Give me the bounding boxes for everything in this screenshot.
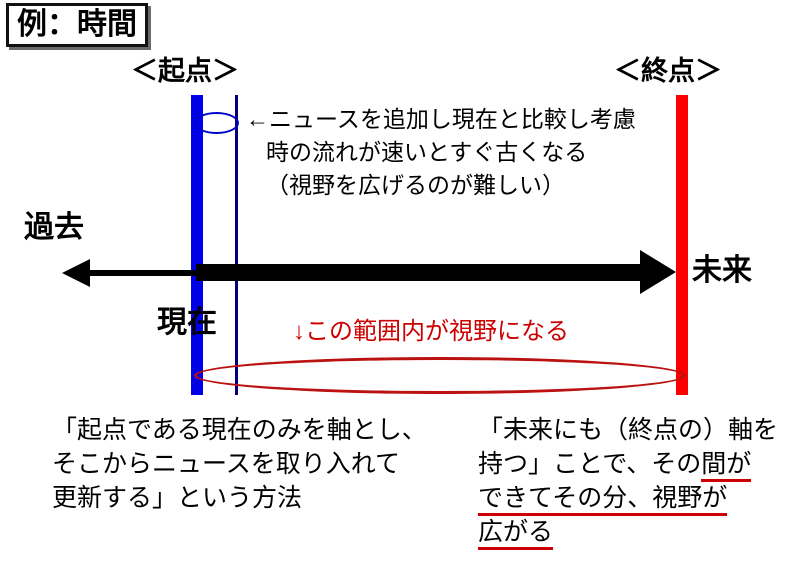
- label-present: 現在: [157, 308, 217, 338]
- field-of-view-ellipse: [194, 357, 686, 394]
- end-axis-bar: [676, 95, 688, 395]
- news-annotation-line-1: ←ニュースを追加し現在と比較し考慮: [246, 103, 636, 136]
- bottom-right-line-4-underlined: 広がる: [478, 518, 553, 550]
- news-annotation-line-3: （視野を広げるのが難しい）: [246, 169, 636, 202]
- bottom-right-line-2-underlined: 間が: [701, 450, 751, 482]
- news-scope-ellipse: [194, 112, 239, 134]
- end-point-caption: ＜終点＞: [614, 58, 722, 85]
- bottom-right-line-2: 持つ」ことで、その間が: [478, 447, 778, 481]
- bottom-right-line-1: 「未来にも（終点の）軸を: [478, 413, 778, 447]
- start-axis-bar: [191, 95, 203, 395]
- bottom-right-line-3: できてその分、視野が: [478, 481, 778, 515]
- timeline-arrow-right-head: [640, 250, 676, 294]
- label-past: 過去: [24, 213, 84, 243]
- bottom-left-line-3: 更新する」という方法: [52, 481, 427, 515]
- news-annotation-line-2: 時の流れが速いとすぐ古くなる: [246, 136, 636, 169]
- bottom-right-text: 「未来にも（終点の）軸を 持つ」ことで、その間が できてその分、視野が 広がる: [478, 413, 778, 549]
- news-annotation: ←ニュースを追加し現在と比較し考慮 時の流れが速いとすぐ古くなる （視野を広げる…: [246, 103, 636, 202]
- start-point-caption: ＜起点＞: [131, 58, 239, 85]
- title-box: 例：時間: [6, 3, 148, 47]
- bottom-left-line-2: そこからニュースを取り入れて: [52, 447, 427, 481]
- diagram-canvas: 例：時間 ＜起点＞ ＜終点＞ ←ニュースを追加し現在と比較し考慮 時の流れが速い…: [0, 0, 800, 586]
- label-future: 未来: [692, 256, 752, 286]
- timeline-past-segment: [86, 270, 198, 276]
- bottom-left-text: 「起点である現在のみを軸とし、 そこからニュースを取り入れて 更新する」という方…: [52, 413, 427, 515]
- start-axis-secondary-line: [235, 95, 238, 395]
- bottom-right-line-2-plain: 持つ」ことで、その: [478, 450, 701, 478]
- title-text: 例：時間: [8, 5, 146, 45]
- bottom-right-line-4: 広がる: [478, 515, 778, 549]
- timeline-main-segment: [196, 264, 646, 281]
- range-note: ↓この範囲内が視野になる: [293, 320, 569, 344]
- bottom-left-line-1: 「起点である現在のみを軸とし、: [52, 413, 427, 447]
- bottom-right-line-3-underlined: できてその分、視野が: [478, 484, 727, 516]
